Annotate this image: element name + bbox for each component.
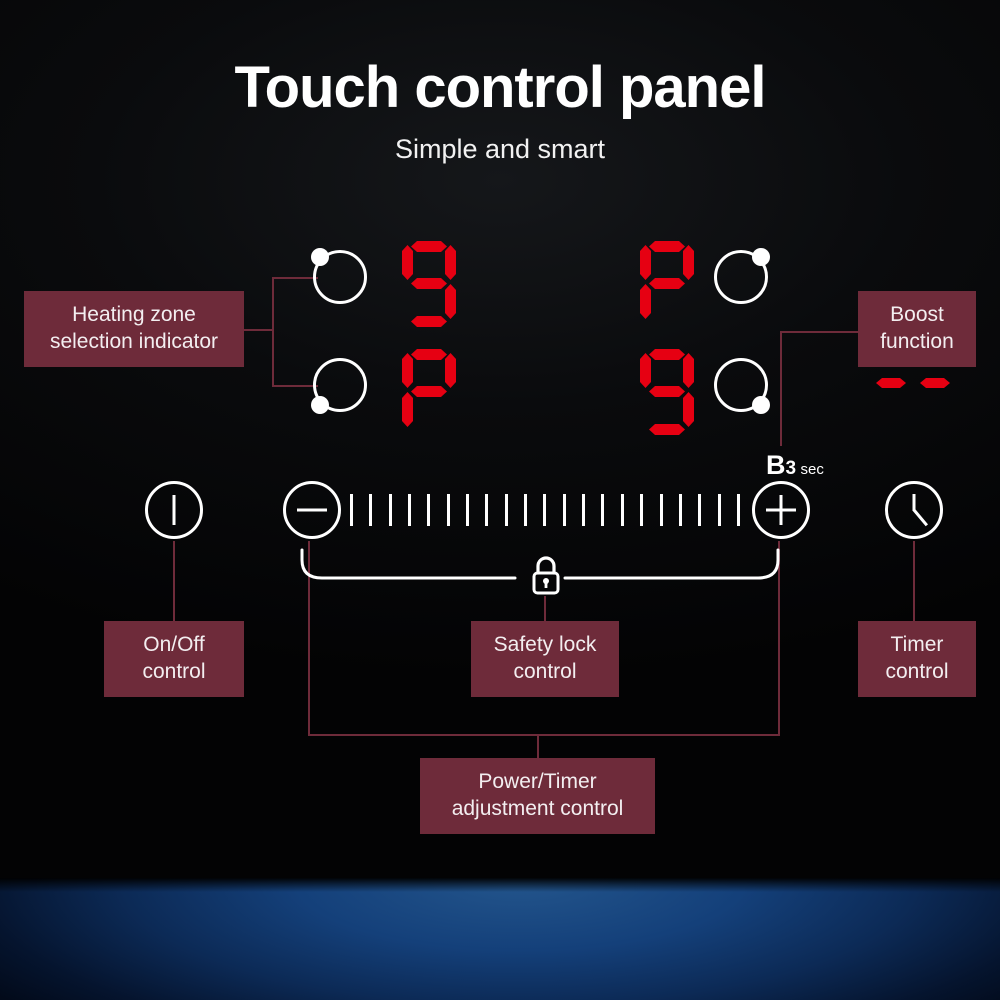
connector-timer <box>913 541 915 621</box>
zone-indicator-top-right[interactable] <box>714 250 768 304</box>
zone-indicator-bottom-left[interactable] <box>313 358 367 412</box>
connector-boost-horizontal <box>780 331 860 333</box>
power-display-top-left <box>402 241 456 327</box>
connector-power-timer-stem <box>537 734 539 758</box>
callout-safety-lock-line1: Safety lock <box>494 632 597 659</box>
zone-indicator-top-left[interactable] <box>313 250 367 304</box>
on-off-button[interactable] <box>145 481 203 539</box>
slider-tick <box>563 494 566 526</box>
padlock-icon[interactable] <box>528 554 564 596</box>
slider-tick <box>369 494 372 526</box>
boost-segment-dashes <box>876 378 950 388</box>
bottom-blue-band <box>0 878 1000 1000</box>
connector-zone-bracket-top <box>272 277 318 279</box>
boost-dash-right-icon <box>920 378 950 388</box>
callout-safety-lock-line2: control <box>513 659 576 686</box>
page-title: Touch control panel <box>0 54 1000 121</box>
callout-on-off-line2: control <box>142 659 205 686</box>
slider-tick <box>582 494 585 526</box>
connector-onoff <box>173 541 175 621</box>
slider-tick <box>718 494 721 526</box>
callout-power-timer-line2: adjustment control <box>452 796 624 823</box>
boost-hold-unit: sec <box>801 461 824 478</box>
callout-timer-line1: Timer <box>891 632 944 659</box>
connector-boost-vertical <box>780 331 782 446</box>
zone-dot-icon <box>752 248 770 266</box>
zone-dot-icon <box>752 396 770 414</box>
slider-tick <box>640 494 643 526</box>
callout-boost-function: Boost function <box>858 291 976 367</box>
slider-tick <box>621 494 624 526</box>
power-slider-ticks[interactable] <box>350 494 740 526</box>
callout-on-off-line1: On/Off <box>143 632 204 659</box>
callout-heating-zone-line1: Heating zone <box>72 302 196 329</box>
slider-tick <box>505 494 508 526</box>
slider-tick <box>408 494 411 526</box>
slider-tick <box>601 494 604 526</box>
timer-button[interactable] <box>885 481 943 539</box>
product-infographic: Touch control panel Simple and smart Hea… <box>0 0 1000 1000</box>
power-display-bottom-right <box>640 349 694 435</box>
connector-zone-bracket-vertical <box>272 277 274 387</box>
callout-safety-lock: Safety lock control <box>471 621 619 697</box>
connector-power-timer-bottom <box>308 734 780 736</box>
callout-power-timer: Power/Timer adjustment control <box>420 758 655 834</box>
slider-tick <box>350 494 353 526</box>
connector-zone-stem <box>244 329 274 331</box>
callout-timer: Timer control <box>858 621 976 697</box>
callout-power-timer-line1: Power/Timer <box>478 769 596 796</box>
power-icon <box>173 495 176 525</box>
callout-heating-zone-line2: selection indicator <box>50 329 218 356</box>
callout-boost-line2: function <box>880 329 954 356</box>
slider-tick <box>660 494 663 526</box>
boost-letter: B <box>766 450 786 480</box>
power-display-top-right <box>640 241 694 327</box>
boost-hold-number: 3 <box>786 458 797 479</box>
slider-tick <box>679 494 682 526</box>
page-subtitle: Simple and smart <box>0 134 1000 165</box>
power-display-bottom-left <box>402 349 456 435</box>
decrease-button[interactable] <box>283 481 341 539</box>
increase-button[interactable] <box>752 481 810 539</box>
slider-tick <box>389 494 392 526</box>
callout-on-off: On/Off control <box>104 621 244 697</box>
slider-tick <box>524 494 527 526</box>
slider-tick <box>466 494 469 526</box>
slider-tick <box>485 494 488 526</box>
slider-tick <box>447 494 450 526</box>
zone-dot-icon <box>311 248 329 266</box>
plus-icon-cross <box>766 509 796 512</box>
connector-safety-lock <box>544 596 546 621</box>
connector-zone-bracket-bottom <box>272 385 318 387</box>
minus-icon <box>297 509 327 512</box>
boost-dash-left-icon <box>876 378 906 388</box>
slider-tick <box>737 494 740 526</box>
callout-timer-line2: control <box>885 659 948 686</box>
slider-tick <box>698 494 701 526</box>
slider-tick <box>427 494 430 526</box>
callout-boost-line1: Boost <box>890 302 944 329</box>
zone-indicator-bottom-right[interactable] <box>714 358 768 412</box>
callout-heating-zone: Heating zone selection indicator <box>24 291 244 367</box>
clock-icon-hand-minute <box>913 509 928 526</box>
boost-hold-marker: B3 sec <box>766 450 824 481</box>
zone-dot-icon <box>311 396 329 414</box>
slider-tick <box>543 494 546 526</box>
